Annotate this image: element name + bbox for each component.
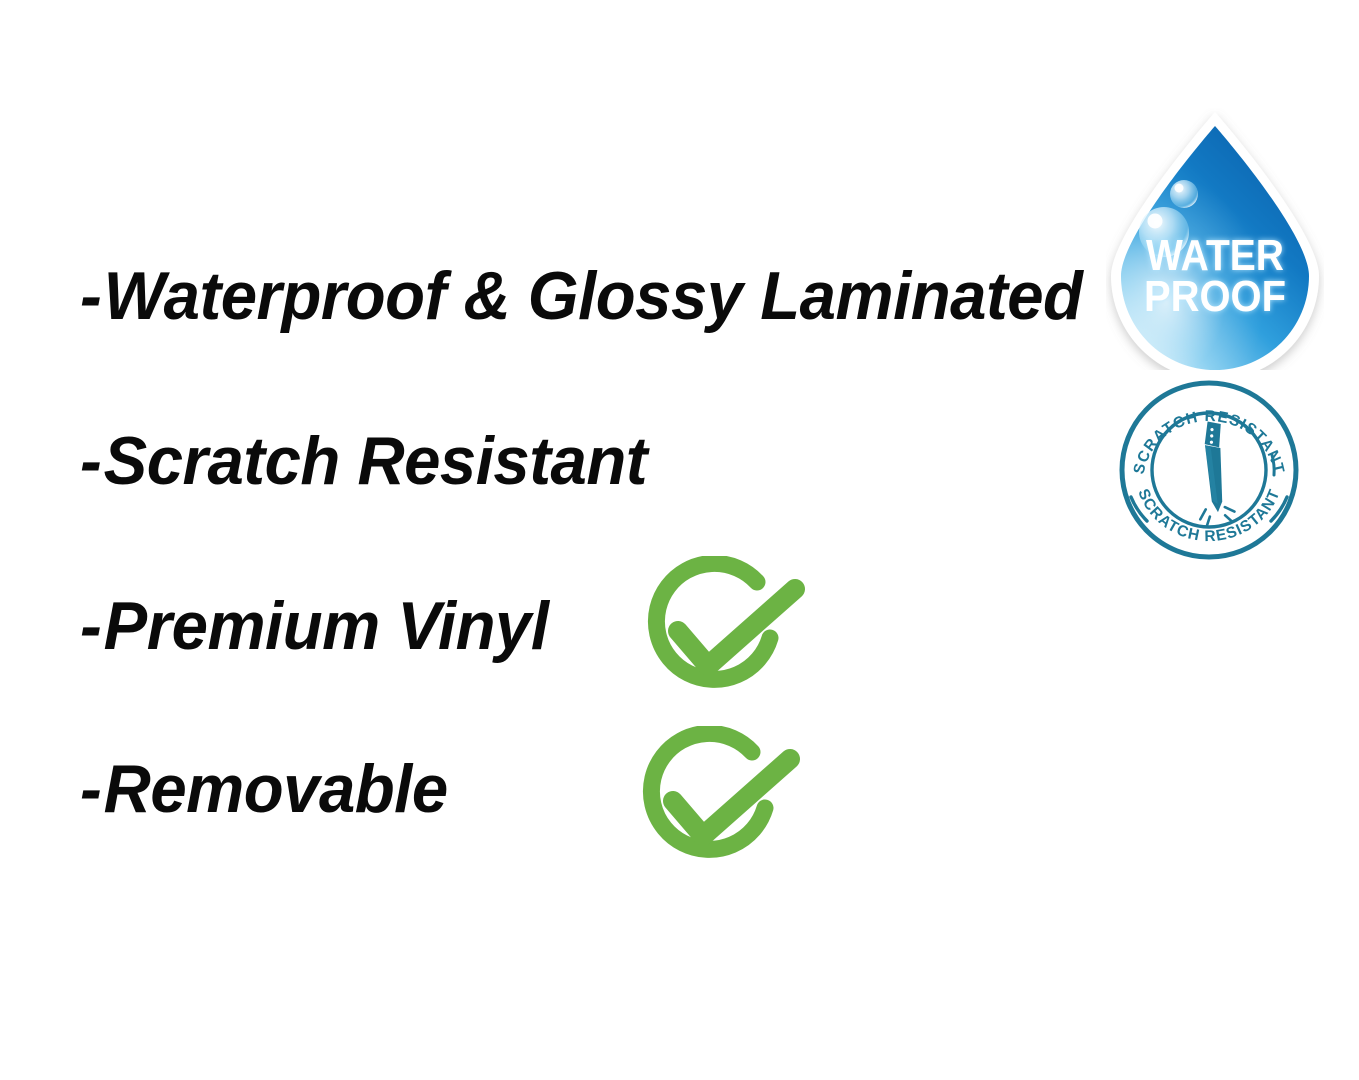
feature-label-removable: Removable (104, 751, 448, 827)
feature-item-scratch-resistant: -Scratch Resistant (80, 427, 647, 495)
feature-item-removable: -Removable (80, 755, 448, 823)
green-check-icon-vinyl (635, 556, 825, 706)
feature-bullet-dash: - (80, 423, 104, 499)
check-tick (678, 589, 795, 666)
knife-icon (1175, 418, 1248, 530)
bubble-icon (1170, 180, 1198, 208)
scratch-resistant-seal: SCRATCH RESISTANT SCRATCH RESISTANT (1113, 379, 1305, 561)
feature-item-waterproof: -Waterproof & Glossy Laminated (80, 262, 1082, 330)
waterproof-drop-badge: WATER PROOF (1106, 108, 1324, 370)
feature-label-premium-vinyl: Premium Vinyl (104, 588, 549, 664)
feature-bullet-dash: - (80, 588, 104, 664)
green-check-icon-removable (630, 726, 820, 876)
feature-label-scratch-resistant: Scratch Resistant (104, 423, 647, 499)
feature-bullet-dash: - (80, 258, 104, 334)
feature-list-graphic: -Waterproof & Glossy Laminated -Scratch … (0, 0, 1359, 1080)
feature-label-waterproof: Waterproof & Glossy Laminated (104, 258, 1083, 334)
check-tick (673, 759, 790, 836)
waterproof-line2: PROOF (1144, 272, 1286, 321)
feature-bullet-dash: - (80, 751, 104, 827)
feature-item-premium-vinyl: -Premium Vinyl (80, 592, 548, 660)
